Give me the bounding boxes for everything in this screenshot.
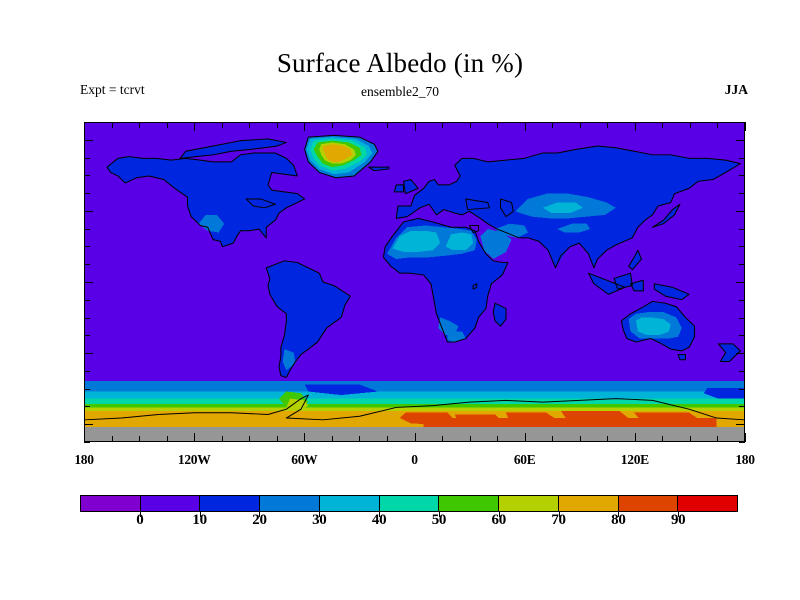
tick-mark: [580, 122, 581, 128]
albedo-contour-map: [85, 123, 744, 441]
tick-mark: [635, 433, 636, 442]
tick-mark: [739, 264, 745, 265]
tick-mark: [739, 335, 745, 336]
tick-mark: [332, 122, 333, 128]
tick-mark: [580, 436, 581, 442]
page-title: Surface Albedo (in %): [0, 48, 800, 79]
tick-mark: [635, 122, 636, 131]
tick-mark: [739, 442, 745, 443]
colorbar-segment: [81, 496, 140, 511]
tick-mark: [84, 246, 90, 247]
tick-mark: [717, 436, 718, 442]
tick-mark: [607, 122, 608, 128]
tick-mark: [739, 122, 745, 123]
tick-mark: [739, 158, 745, 159]
x-axis-tick-label: 180: [74, 452, 93, 468]
tick-mark: [84, 211, 93, 212]
tick-mark: [607, 436, 608, 442]
tick-mark: [84, 122, 85, 131]
tick-mark: [470, 122, 471, 128]
tick-mark: [662, 436, 663, 442]
tick-mark: [736, 282, 745, 283]
tick-mark: [84, 193, 90, 194]
tick-mark: [84, 300, 90, 301]
tick-mark: [84, 264, 90, 265]
x-axis-tick-label: 60E: [514, 452, 536, 468]
tick-mark: [84, 140, 93, 141]
tick-mark: [736, 353, 745, 354]
tick-mark: [139, 122, 140, 128]
tick-mark: [84, 229, 90, 230]
tick-mark: [222, 436, 223, 442]
tick-mark: [332, 436, 333, 442]
colorbar-segment: [438, 496, 498, 511]
tick-mark: [442, 436, 443, 442]
tick-mark: [736, 140, 745, 141]
colorbar-segment: [618, 496, 678, 511]
tick-mark: [525, 433, 526, 442]
tick-mark: [84, 318, 90, 319]
tick-mark: [745, 433, 746, 442]
subtitle-label: ensemble2_70: [0, 84, 800, 100]
tick-mark: [470, 436, 471, 442]
tick-mark: [249, 122, 250, 128]
tick-mark: [690, 122, 691, 128]
colorbar-segment: [199, 496, 259, 511]
tick-mark: [497, 122, 498, 128]
x-axis-tick-label: 120E: [621, 452, 649, 468]
tick-mark: [736, 424, 745, 425]
tick-mark: [739, 175, 745, 176]
colorbar-segment: [379, 496, 439, 511]
map-plot-area: [84, 122, 745, 442]
colorbar-segment: [498, 496, 558, 511]
tick-mark: [167, 122, 168, 128]
tick-mark: [84, 175, 90, 176]
tick-mark: [194, 433, 195, 442]
tick-mark: [739, 371, 745, 372]
tick-mark: [739, 229, 745, 230]
tick-mark: [736, 211, 745, 212]
tick-mark: [690, 436, 691, 442]
tick-mark: [84, 122, 90, 123]
tick-mark: [84, 433, 85, 442]
tick-mark: [662, 122, 663, 128]
colorbar: [80, 495, 738, 512]
tick-mark: [387, 436, 388, 442]
x-axis-tick-label: 0: [411, 452, 417, 468]
tick-mark: [739, 389, 745, 390]
tick-mark: [442, 122, 443, 128]
tick-mark: [139, 436, 140, 442]
tick-mark: [415, 122, 416, 131]
x-axis-tick-label: 120W: [178, 452, 211, 468]
tick-mark: [84, 389, 90, 390]
tick-mark: [112, 436, 113, 442]
tick-mark: [304, 122, 305, 131]
tick-mark: [84, 335, 90, 336]
tick-mark: [84, 442, 90, 443]
figure-canvas: Surface Albedo (in %) Expt = tcrvt ensem…: [0, 0, 800, 600]
x-axis-tick-label: 60W: [291, 452, 317, 468]
colorbar-segment: [677, 496, 737, 511]
tick-mark: [739, 300, 745, 301]
tick-mark: [84, 424, 93, 425]
tick-mark: [497, 436, 498, 442]
tick-mark: [739, 193, 745, 194]
tick-mark: [387, 122, 388, 128]
tick-mark: [277, 436, 278, 442]
x-axis-tick-label: 180: [735, 452, 754, 468]
tick-mark: [415, 433, 416, 442]
tick-mark: [112, 122, 113, 128]
tick-mark: [552, 436, 553, 442]
tick-mark: [525, 122, 526, 131]
tick-mark: [359, 436, 360, 442]
tick-mark: [84, 282, 93, 283]
tick-mark: [194, 122, 195, 131]
season-label: JJA: [725, 82, 748, 98]
colorbar-segment: [140, 496, 200, 511]
tick-mark: [304, 433, 305, 442]
tick-mark: [745, 122, 746, 131]
tick-mark: [167, 436, 168, 442]
tick-mark: [84, 158, 90, 159]
tick-mark: [84, 353, 93, 354]
tick-mark: [249, 436, 250, 442]
colorbar-segment: [259, 496, 319, 511]
tick-mark: [717, 122, 718, 128]
tick-mark: [222, 122, 223, 128]
colorbar-segment: [319, 496, 379, 511]
tick-mark: [277, 122, 278, 128]
tick-mark: [84, 406, 90, 407]
colorbar-segment: [558, 496, 618, 511]
tick-mark: [739, 246, 745, 247]
tick-mark: [552, 122, 553, 128]
tick-mark: [359, 122, 360, 128]
tick-mark: [739, 406, 745, 407]
tick-mark: [739, 318, 745, 319]
tick-mark: [84, 371, 90, 372]
